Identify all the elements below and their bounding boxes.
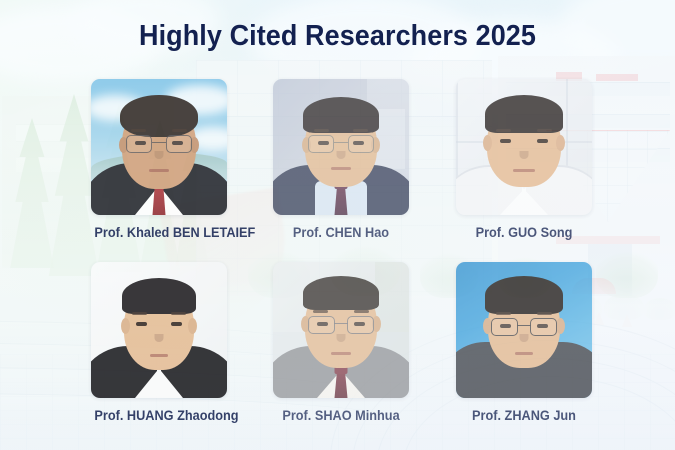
eyebrow-right bbox=[537, 312, 552, 315]
eye-right bbox=[171, 322, 182, 326]
researcher-photo bbox=[91, 262, 227, 398]
lens-right bbox=[347, 316, 374, 334]
eyebrow-left bbox=[496, 312, 511, 315]
eyebrow-right bbox=[172, 129, 187, 132]
ear-left bbox=[121, 318, 130, 334]
researcher-card[interactable]: Prof. ZHANG Jun bbox=[456, 262, 592, 358]
eyebrow-right bbox=[537, 129, 552, 132]
researcher-name: Prof. HUANG Zhaodong bbox=[94, 407, 223, 425]
hair bbox=[485, 95, 563, 133]
lens-left bbox=[308, 316, 335, 334]
nose bbox=[520, 334, 529, 342]
lens-right bbox=[530, 318, 557, 336]
glasses-bridge bbox=[334, 142, 348, 143]
glasses-bridge bbox=[152, 142, 166, 143]
mouth bbox=[515, 352, 533, 355]
hair bbox=[122, 278, 196, 314]
eyebrow-left bbox=[132, 312, 147, 315]
eyeglasses bbox=[308, 316, 374, 334]
mouth bbox=[513, 169, 535, 172]
lens-right bbox=[348, 135, 374, 153]
researcher-name: Prof. SHAO Minhua bbox=[276, 407, 405, 425]
eyebrow-left bbox=[313, 310, 328, 313]
lens-right bbox=[166, 135, 192, 153]
photo-backdrop-bar bbox=[375, 109, 405, 169]
eyebrow-left bbox=[314, 129, 329, 132]
eyebrow-right bbox=[171, 312, 186, 315]
lens-left bbox=[126, 135, 152, 153]
mouth bbox=[331, 167, 351, 170]
researcher-card[interactable]: Prof. SHAO Minhua bbox=[273, 262, 409, 332]
researcher-card[interactable]: Prof. Khaled BEN LETAIEF bbox=[91, 79, 227, 157]
nose bbox=[337, 334, 346, 342]
researcher-card[interactable]: Prof. HUANG Zhaodong bbox=[91, 262, 227, 340]
hair bbox=[303, 276, 379, 310]
ear-right bbox=[188, 318, 197, 334]
lens-left bbox=[308, 135, 334, 153]
ear-right bbox=[556, 135, 565, 151]
eyebrow-left bbox=[131, 129, 146, 132]
lens-left bbox=[491, 318, 518, 336]
eye-left bbox=[500, 139, 511, 143]
glasses-bridge bbox=[334, 323, 348, 324]
researcher-photo bbox=[273, 79, 409, 215]
poster-canvas: Highly Cited Researchers 2025 bbox=[0, 0, 675, 450]
researcher-card[interactable]: Prof. GUO Song bbox=[456, 79, 592, 175]
eyebrow-right bbox=[354, 310, 369, 313]
researcher-name: Prof. GUO Song bbox=[459, 224, 588, 242]
mouth bbox=[150, 354, 168, 357]
researcher-photo bbox=[91, 79, 227, 215]
nose bbox=[337, 151, 346, 159]
researcher-photo bbox=[456, 262, 592, 398]
eye-left bbox=[136, 322, 147, 326]
mouth bbox=[331, 352, 351, 355]
ear-left bbox=[483, 135, 492, 151]
ear-right bbox=[556, 318, 565, 334]
researcher-photo bbox=[456, 79, 592, 215]
eyebrow-right bbox=[353, 129, 368, 132]
eyebrow-left bbox=[496, 129, 511, 132]
nose bbox=[155, 334, 164, 342]
researcher-name: Prof. Khaled BEN LETAIEF bbox=[94, 224, 223, 242]
researcher-name: Prof. CHEN Hao bbox=[276, 224, 405, 242]
glasses-bridge bbox=[517, 325, 531, 326]
researcher-photo bbox=[273, 262, 409, 398]
researcher-card[interactable]: Prof. CHEN Hao bbox=[273, 79, 409, 149]
researcher-grid: Prof. Khaled BEN LETAIEF bbox=[0, 0, 675, 450]
eye-right bbox=[537, 139, 548, 143]
researcher-name: Prof. ZHANG Jun bbox=[459, 407, 588, 425]
hair bbox=[485, 276, 563, 314]
nose bbox=[155, 151, 164, 159]
mouth bbox=[149, 169, 169, 172]
nose bbox=[520, 151, 529, 159]
hair bbox=[303, 97, 379, 133]
